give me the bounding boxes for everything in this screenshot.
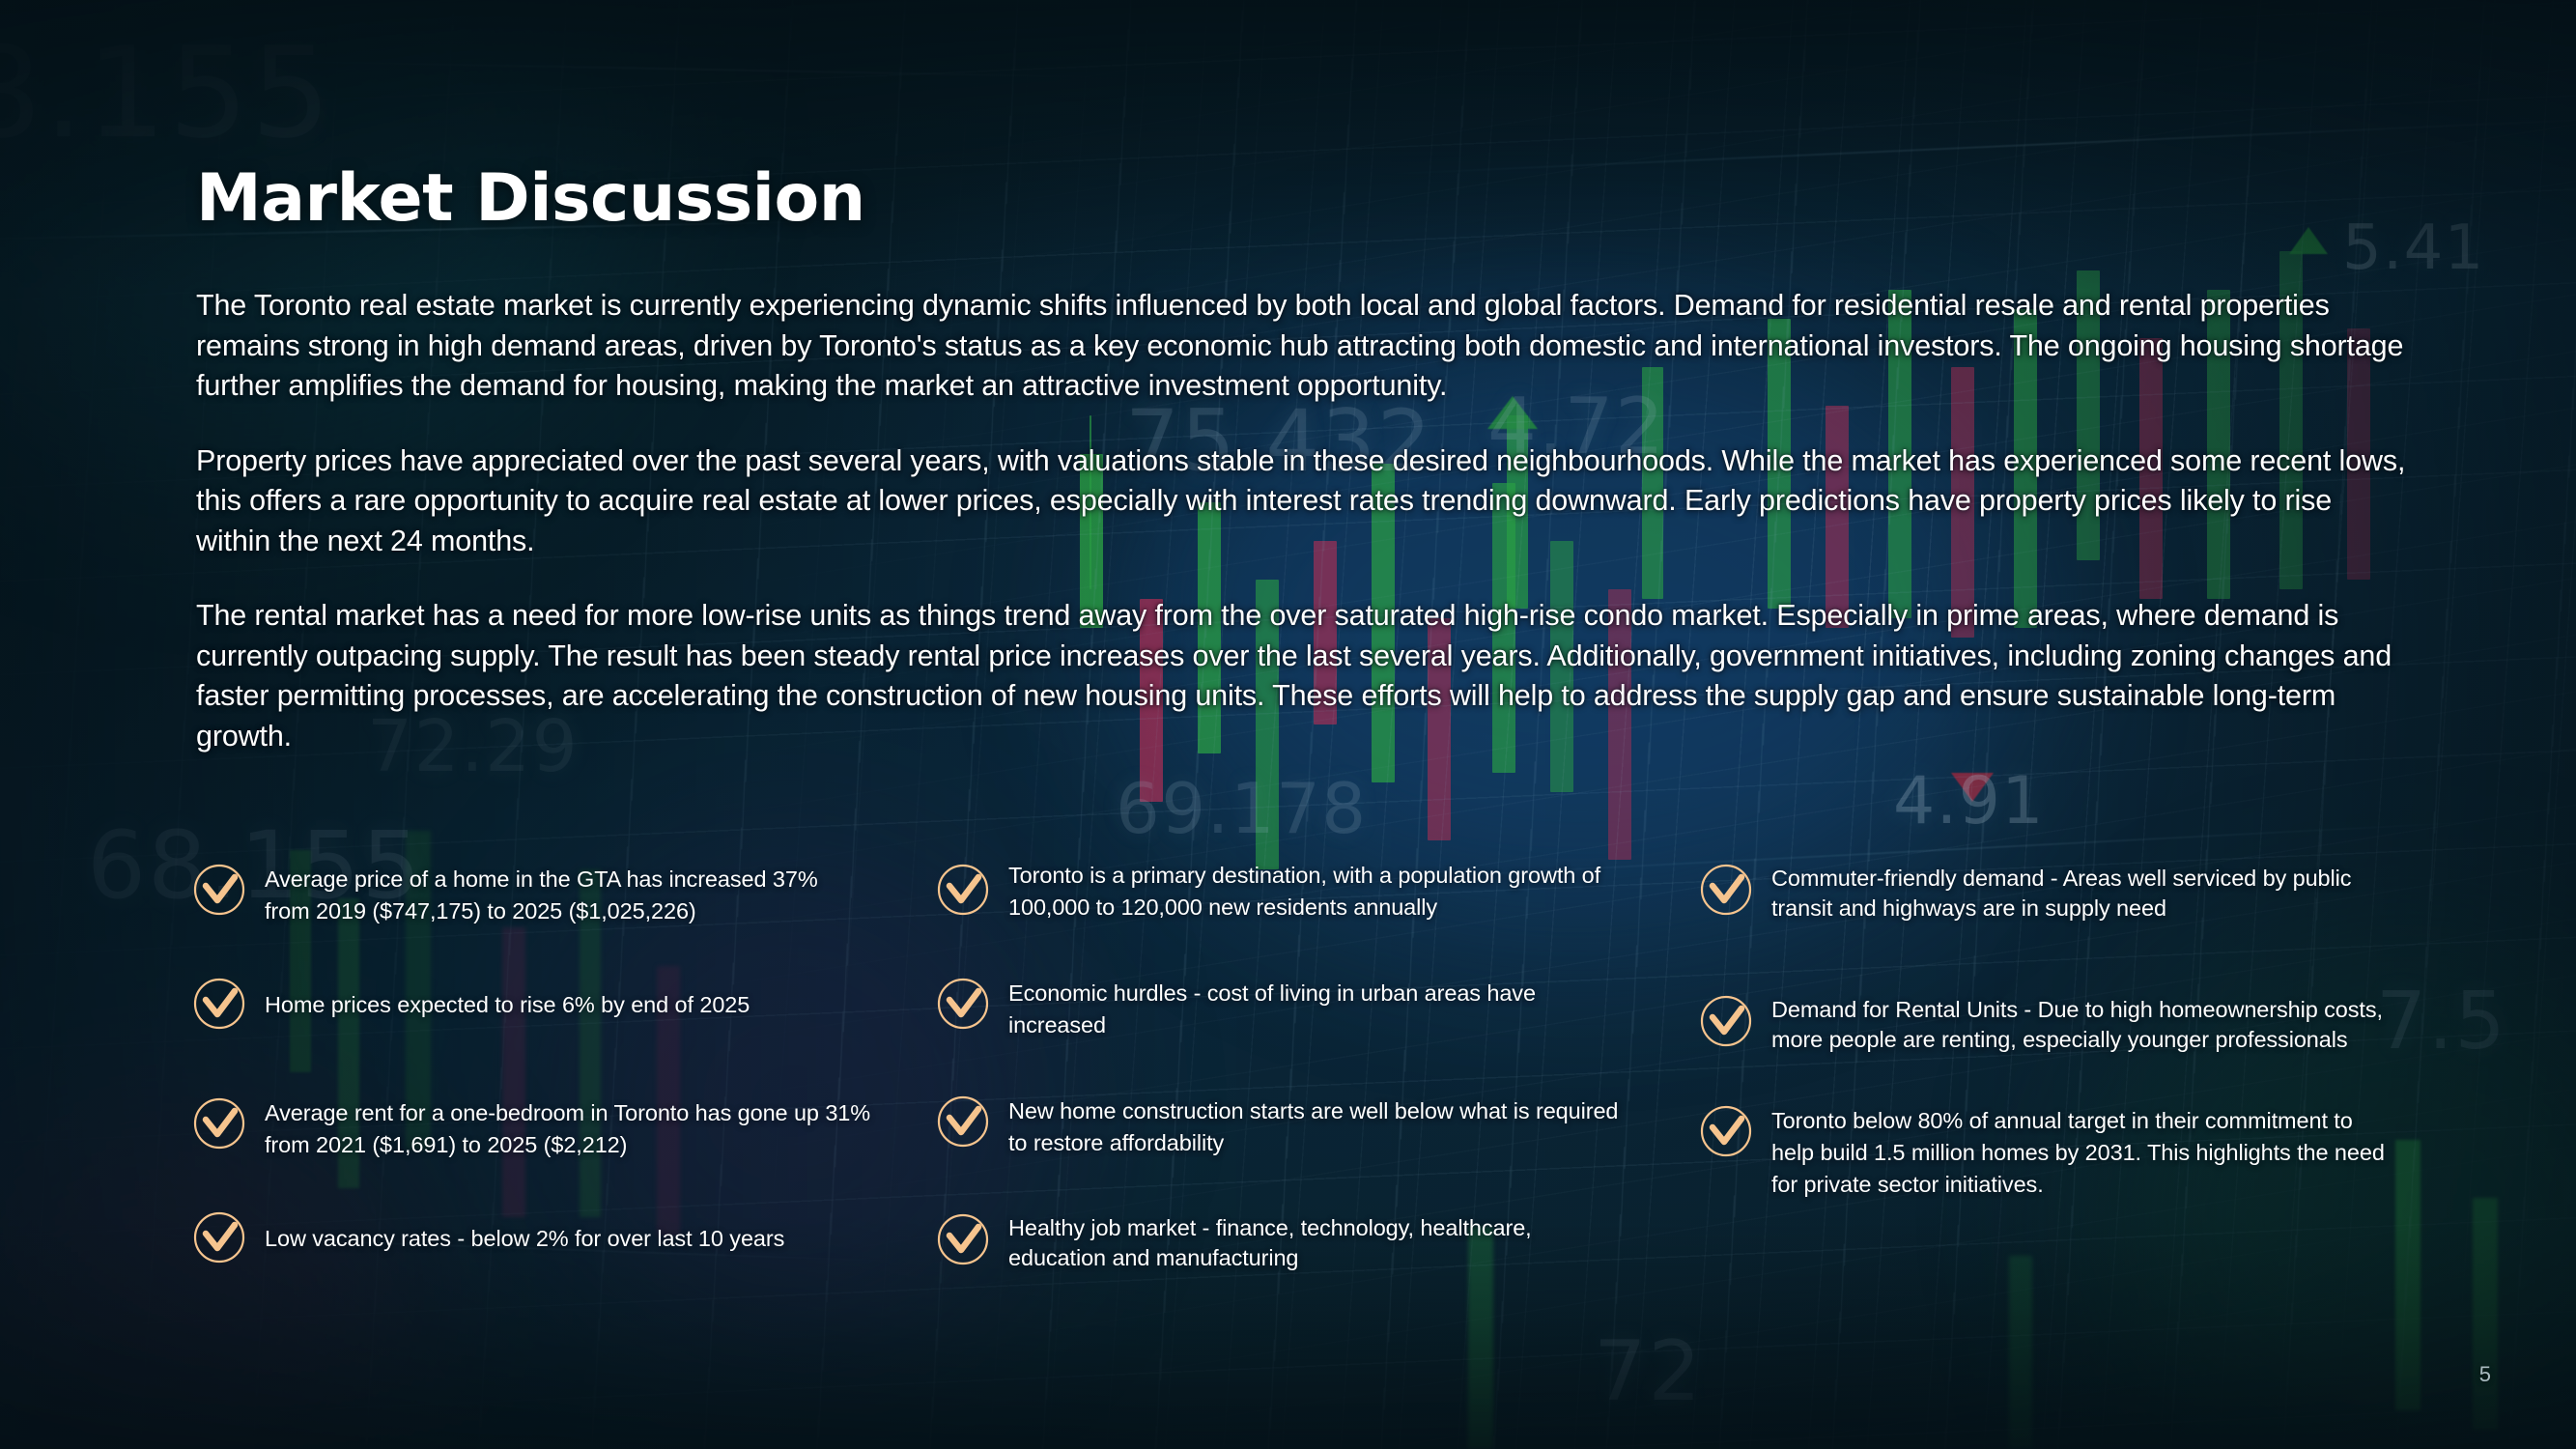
page-title: Market Discussion bbox=[196, 166, 865, 232]
list-item-label: New home construction starts are well be… bbox=[1008, 1092, 1636, 1159]
check-circle-icon bbox=[189, 1207, 249, 1267]
paragraph-1: The Toronto real estate market is curren… bbox=[196, 286, 2408, 407]
list-item: Average price of a home in the GTA has i… bbox=[189, 860, 933, 927]
list-item: New home construction starts are well be… bbox=[933, 1092, 1696, 1159]
body-copy: The Toronto real estate market is curren… bbox=[196, 286, 2408, 756]
list-item: Demand for Rental Units - Due to high ho… bbox=[1696, 991, 2469, 1055]
list-item: Toronto below 80% of annual target in th… bbox=[1696, 1101, 2469, 1201]
paragraph-3: The rental market has a need for more lo… bbox=[196, 596, 2408, 756]
list-item-label: Toronto below 80% of annual target in th… bbox=[1771, 1101, 2399, 1201]
page-number: 5 bbox=[2479, 1362, 2491, 1387]
bullet-column-3: Commuter-friendly demand - Areas well se… bbox=[1696, 860, 2469, 1273]
list-item: Low vacancy rates - below 2% for over la… bbox=[189, 1207, 933, 1267]
list-item: Healthy job market - finance, technology… bbox=[933, 1209, 1696, 1273]
list-item-label: Low vacancy rates - below 2% for over la… bbox=[265, 1207, 784, 1255]
list-item-label: Home prices expected to rise 6% by end o… bbox=[265, 974, 750, 1021]
list-item-label: Commuter-friendly demand - Areas well se… bbox=[1771, 860, 2375, 923]
check-circle-icon bbox=[933, 1209, 993, 1269]
list-item-label: Average price of a home in the GTA has i… bbox=[265, 860, 854, 927]
check-circle-icon bbox=[933, 1092, 993, 1151]
check-circle-icon bbox=[189, 974, 249, 1034]
list-item-label: Healthy job market - finance, technology… bbox=[1008, 1209, 1607, 1273]
list-item: Commuter-friendly demand - Areas well se… bbox=[1696, 860, 2469, 923]
list-item: Economic hurdles - cost of living in urb… bbox=[933, 974, 1696, 1041]
paragraph-2: Property prices have appreciated over th… bbox=[196, 441, 2408, 562]
check-circle-icon bbox=[933, 860, 993, 920]
bullet-column-1: Average price of a home in the GTA has i… bbox=[189, 860, 933, 1273]
check-circle-icon bbox=[189, 1094, 249, 1153]
list-item: Toronto is a primary destination, with a… bbox=[933, 860, 1696, 923]
bullet-columns: Average price of a home in the GTA has i… bbox=[189, 860, 2469, 1273]
check-circle-icon bbox=[933, 974, 993, 1034]
list-item: Home prices expected to rise 6% by end o… bbox=[189, 974, 933, 1034]
slide-content: Market Discussion The Toronto real estat… bbox=[0, 0, 2576, 1449]
check-circle-icon bbox=[1696, 991, 1756, 1051]
check-circle-icon bbox=[189, 860, 249, 920]
list-item-label: Economic hurdles - cost of living in urb… bbox=[1008, 974, 1631, 1041]
check-circle-icon bbox=[1696, 860, 1756, 920]
list-item: Average rent for a one-bedroom in Toront… bbox=[189, 1094, 933, 1161]
check-circle-icon bbox=[1696, 1101, 1756, 1161]
list-item-label: Demand for Rental Units - Due to high ho… bbox=[1771, 991, 2390, 1055]
list-item-label: Toronto is a primary destination, with a… bbox=[1008, 860, 1627, 923]
slide-market-discussion: 8.155 75.432 4.72 5.41 68.155 69.178 4.9… bbox=[0, 0, 2576, 1449]
list-item-label: Average rent for a one-bedroom in Toront… bbox=[265, 1094, 883, 1161]
bullet-column-2: Toronto is a primary destination, with a… bbox=[933, 860, 1696, 1273]
